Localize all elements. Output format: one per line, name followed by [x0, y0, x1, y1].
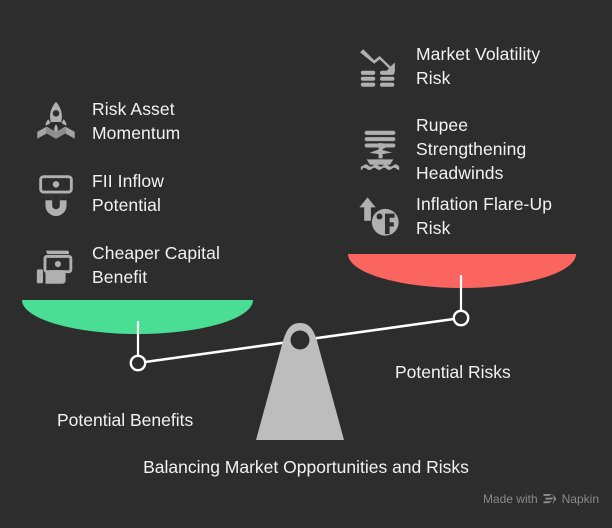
benefits-caption: Potential Benefits — [57, 409, 193, 431]
napkin-watermark: Made with Napkin — [483, 492, 599, 506]
risk-label: Inflation Flare-Up Risk — [416, 192, 552, 240]
rising-temperature-icon — [357, 193, 403, 239]
napkin-logo-icon — [543, 493, 557, 505]
risk-label: Rupee Strengthening Headwinds — [416, 113, 526, 185]
benefit-item-risk-asset-momentum: Risk Asset Momentum — [33, 97, 283, 145]
risks-caption: Potential Risks — [395, 361, 511, 383]
benefit-label: FII Inflow Potential — [92, 169, 164, 217]
watermark-prefix: Made with — [483, 492, 538, 506]
risk-item-inflation-flare-up-risk: Inflation Flare-Up Risk — [357, 192, 612, 240]
benefit-item-cheaper-capital-benefit: Cheaper Capital Benefit — [33, 241, 293, 289]
benefit-item-fii-inflow-potential: FII Inflow Potential — [33, 169, 283, 217]
risk-item-market-volatility-risk: Market Volatility Risk — [357, 42, 609, 90]
balance-scale-infographic: Risk Asset Momentum FII Inflow Potential — [0, 0, 612, 528]
benefit-label: Cheaper Capital Benefit — [92, 241, 220, 289]
fulcrum-pivot — [291, 331, 310, 350]
boat-in-waves-icon — [357, 126, 403, 172]
risk-label: Market Volatility Risk — [416, 42, 540, 90]
rocket-launch-icon — [33, 98, 79, 144]
benefit-label: Risk Asset Momentum — [92, 97, 180, 145]
risks-hanger-ring — [454, 311, 468, 325]
risk-item-rupee-strengthening-headwinds: Rupee Strengthening Headwinds — [357, 113, 609, 185]
hand-holding-cash-icon — [33, 242, 79, 288]
banknote-magnet-icon — [33, 170, 79, 216]
declining-chart-icon — [357, 43, 403, 89]
watermark-brand: Napkin — [562, 492, 599, 506]
benefits-hanger-ring — [131, 356, 145, 370]
diagram-title: Balancing Market Opportunities and Risks — [0, 455, 612, 479]
